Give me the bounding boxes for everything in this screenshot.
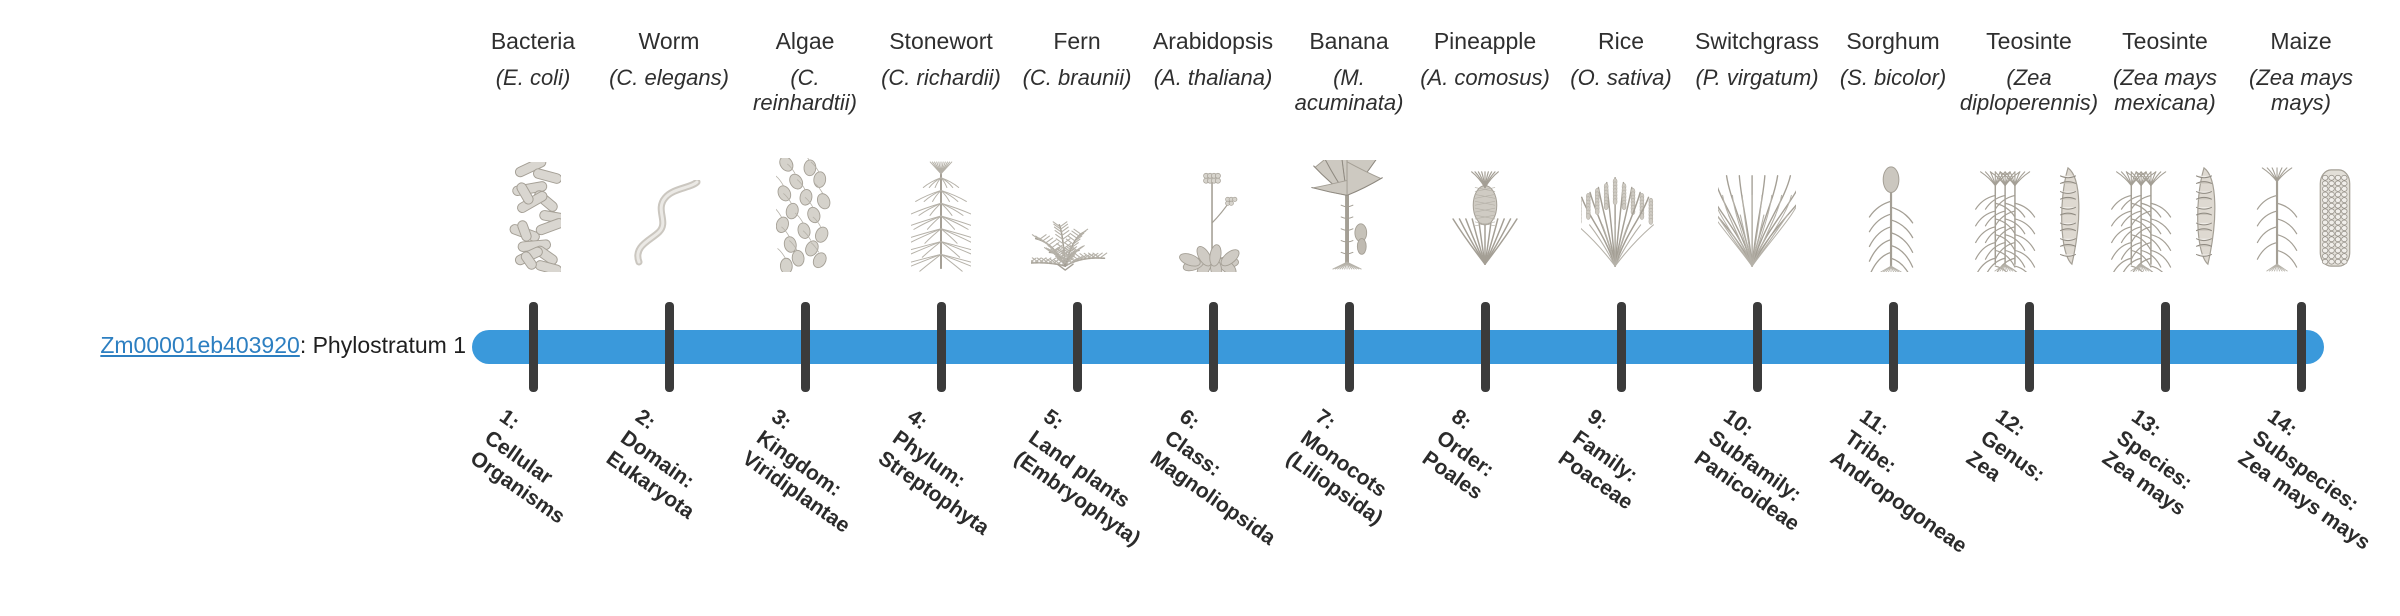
phylostratum-tick[interactable] xyxy=(665,302,674,392)
species-latin-name: (Zea diploperennis) xyxy=(1961,66,2097,122)
gene-phylostratum-label: Zm00001eb403920: Phylostratum 1 xyxy=(0,332,466,360)
pineapple-plant-icon xyxy=(1417,162,1553,272)
teosinte-plant-ear-icon xyxy=(1961,162,2097,272)
species-latin-name: (Zea mays mexicana) xyxy=(2097,66,2233,122)
phylostratum-tick[interactable] xyxy=(1209,302,1218,392)
species-common-name: Sorghum xyxy=(1825,28,1961,58)
species-common-name: Rice xyxy=(1553,28,1689,58)
phylostratum-tick[interactable] xyxy=(529,302,538,392)
species-column: Teosinte(Zea diploperennis) xyxy=(1961,28,2097,122)
phylostratum-tick[interactable] xyxy=(2161,302,2170,392)
species-column: Stonewort(C. richardii) xyxy=(873,28,1009,122)
species-common-name: Algae xyxy=(737,28,873,58)
species-common-name: Fern xyxy=(1009,28,1145,58)
phylostratum-tick[interactable] xyxy=(801,302,810,392)
species-column: Rice(O. sativa) xyxy=(1553,28,1689,122)
species-column: Pineapple(A. comosus) xyxy=(1417,28,1553,122)
species-latin-name: (P. virgatum) xyxy=(1689,66,1825,122)
maize-plant-ear-icon xyxy=(2233,162,2369,272)
species-column: Teosinte(Zea mays mexicana) xyxy=(2097,28,2233,122)
species-column: Banana(M. acuminata) xyxy=(1281,28,1417,122)
species-common-name: Pineapple xyxy=(1417,28,1553,58)
algae-cells-icon xyxy=(737,162,873,272)
species-latin-name: (C. reinhardtii) xyxy=(737,66,873,122)
phylostratum-tick[interactable] xyxy=(1889,302,1898,392)
species-column: Switchgrass(P. virgatum) xyxy=(1689,28,1825,122)
species-column: Sorghum(S. bicolor) xyxy=(1825,28,1961,122)
nematode-worm-icon xyxy=(601,162,737,272)
phylostratum-tick[interactable] xyxy=(1073,302,1082,392)
gene-label-separator: : xyxy=(300,332,313,358)
species-common-name: Switchgrass xyxy=(1689,28,1825,58)
bacteria-rods-icon xyxy=(465,162,601,272)
phylostratum-value: Phylostratum 1 xyxy=(313,332,466,358)
species-column: Fern(C. braunii) xyxy=(1009,28,1145,122)
phylostratum-tick[interactable] xyxy=(1753,302,1762,392)
phylostratum-bar[interactable] xyxy=(472,330,2324,364)
species-common-name: Maize xyxy=(2233,28,2369,58)
species-common-name: Worm xyxy=(601,28,737,58)
arabidopsis-icon xyxy=(1145,162,1281,272)
species-latin-name: (S. bicolor) xyxy=(1825,66,1961,122)
species-common-name: Bacteria xyxy=(465,28,601,58)
species-common-name: Banana xyxy=(1281,28,1417,58)
teosinte-plant-ear-icon xyxy=(2097,162,2233,272)
species-column: Algae(C. reinhardtii) xyxy=(737,28,873,122)
species-common-name: Arabidopsis xyxy=(1145,28,1281,58)
species-column: Arabidopsis(A. thaliana) xyxy=(1145,28,1281,122)
species-latin-name: (C. elegans) xyxy=(601,66,737,122)
species-latin-name: (M. acuminata) xyxy=(1281,66,1417,122)
species-common-name: Teosinte xyxy=(2097,28,2233,58)
phylostratum-figure: Zm00001eb403920: Phylostratum 1 Bacteria… xyxy=(0,0,2400,580)
gene-id-link[interactable]: Zm00001eb403920 xyxy=(100,332,300,358)
species-column: Bacteria(E. coli) xyxy=(465,28,601,122)
switchgrass-icon xyxy=(1689,162,1825,272)
phylostratum-tick[interactable] xyxy=(1345,302,1354,392)
species-latin-name: (O. sativa) xyxy=(1553,66,1689,122)
species-latin-name: (A. comosus) xyxy=(1417,66,1553,122)
phylostratum-tick[interactable] xyxy=(2297,302,2306,392)
species-latin-name: (C. braunii) xyxy=(1009,66,1145,122)
phylostratum-tick[interactable] xyxy=(2025,302,2034,392)
species-column: Worm(C. elegans) xyxy=(601,28,737,122)
phylostratum-tick[interactable] xyxy=(1481,302,1490,392)
species-common-name: Stonewort xyxy=(873,28,1009,58)
species-common-name: Teosinte xyxy=(1961,28,2097,58)
phylostratum-tick[interactable] xyxy=(937,302,946,392)
fern-icon xyxy=(1009,162,1145,272)
species-latin-name: (C. richardii) xyxy=(873,66,1009,122)
phylostratum-tick[interactable] xyxy=(1617,302,1626,392)
rice-plant-icon xyxy=(1553,162,1689,272)
sorghum-icon xyxy=(1825,162,1961,272)
species-latin-name: (Zea mays mays) xyxy=(2233,66,2369,122)
stonewort-icon xyxy=(873,162,1009,272)
species-latin-name: (E. coli) xyxy=(465,66,601,122)
species-column: Maize(Zea mays mays) xyxy=(2233,28,2369,122)
banana-plant-icon xyxy=(1281,162,1417,272)
species-latin-name: (A. thaliana) xyxy=(1145,66,1281,122)
